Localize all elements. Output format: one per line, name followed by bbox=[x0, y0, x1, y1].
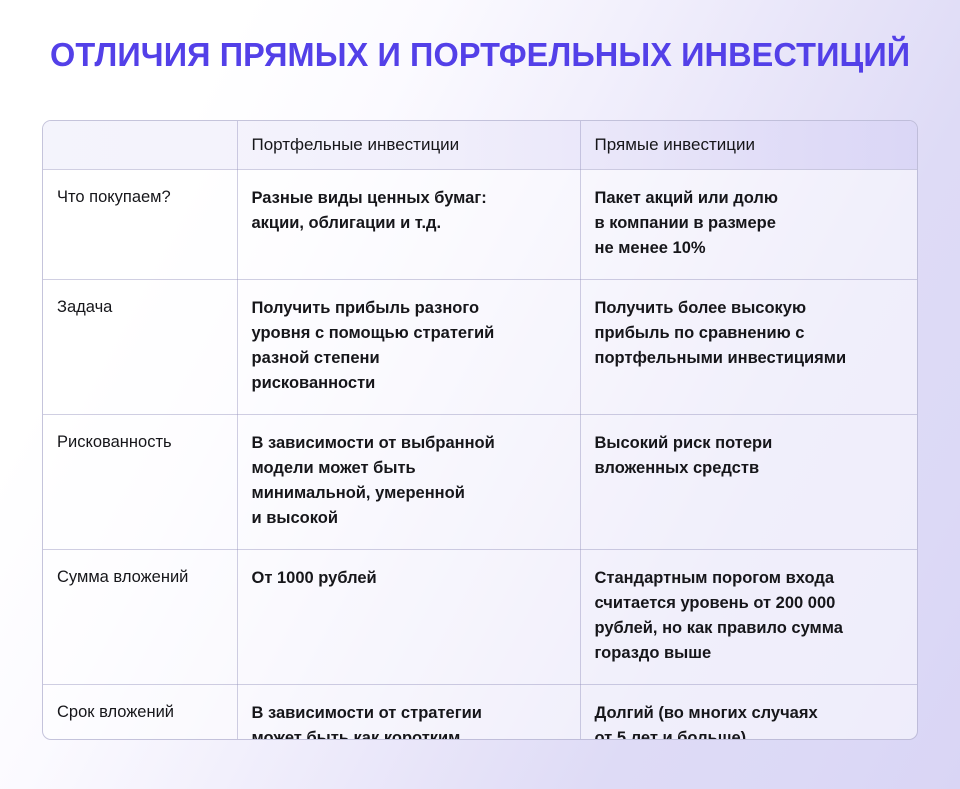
text-line: от 5 лет и больше) bbox=[595, 726, 906, 740]
text-line: В зависимости от выбранной bbox=[252, 431, 566, 456]
row-portfolio-cell: Получить прибыль разногоуровня с помощью… bbox=[237, 280, 580, 415]
text-line: прибыль по сравнению с bbox=[595, 321, 906, 346]
row-direct-cell: Стандартным порогом входасчитается урове… bbox=[580, 550, 918, 685]
text-line: Получить прибыль разного bbox=[252, 296, 566, 321]
row-portfolio-text: В зависимости от стратегииможет быть как… bbox=[238, 685, 580, 740]
text-line: От 1000 рублей bbox=[252, 566, 566, 591]
row-portfolio-cell: В зависимости от выбранноймодели может б… bbox=[237, 415, 580, 550]
row-criterion-cell: Что покупаем? bbox=[43, 170, 237, 280]
comparison-table-container: Портфельные инвестиции Прямые инвестиции… bbox=[42, 120, 918, 740]
row-portfolio-cell: От 1000 рублей bbox=[237, 550, 580, 685]
text-line: Долгий (во многих случаях bbox=[595, 701, 906, 726]
text-line: Пакет акций или долю bbox=[595, 186, 906, 211]
table-row: Сумма вложенийОт 1000 рублейСтандартным … bbox=[43, 550, 918, 685]
row-direct-text: Получить более высокуюприбыль по сравнен… bbox=[581, 280, 919, 389]
text-line: акции, облигации и т.д. bbox=[252, 211, 566, 236]
text-line: не менее 10% bbox=[595, 236, 906, 261]
text-line: Получить более высокую bbox=[595, 296, 906, 321]
row-direct-cell: Высокий риск потеривложенных средств bbox=[580, 415, 918, 550]
column-header-direct-label: Прямые инвестиции bbox=[581, 121, 919, 155]
row-direct-cell: Пакет акций или долюв компании в размере… bbox=[580, 170, 918, 280]
table-row: РискованностьВ зависимости от выбраннойм… bbox=[43, 415, 918, 550]
row-direct-text: Стандартным порогом входасчитается урове… bbox=[581, 550, 919, 684]
row-portfolio-text: От 1000 рублей bbox=[238, 550, 580, 609]
row-direct-text: Высокий риск потеривложенных средств bbox=[581, 415, 919, 499]
row-direct-text: Пакет акций или долюв компании в размере… bbox=[581, 170, 919, 279]
column-header-criterion bbox=[43, 121, 237, 170]
text-line: Высокий риск потери bbox=[595, 431, 906, 456]
table-body: Что покупаем?Разные виды ценных бумаг:ак… bbox=[43, 170, 918, 741]
row-portfolio-text: В зависимости от выбранноймодели может б… bbox=[238, 415, 580, 549]
text-line: уровня с помощью стратегий bbox=[252, 321, 566, 346]
row-criterion-cell: Рискованность bbox=[43, 415, 237, 550]
text-line: портфельными инвестициями bbox=[595, 346, 906, 371]
text-line: Стандартным порогом входа bbox=[595, 566, 906, 591]
row-direct-cell: Получить более высокуюприбыль по сравнен… bbox=[580, 280, 918, 415]
row-criterion-label: Сумма вложений bbox=[43, 550, 237, 606]
page-title: ОТЛИЧИЯ ПРЯМЫХ И ПОРТФЕЛЬНЫХ ИНВЕСТИЦИЙ bbox=[50, 34, 916, 76]
column-header-direct: Прямые инвестиции bbox=[580, 121, 918, 170]
row-direct-text: Долгий (во многих случаяхот 5 лет и боль… bbox=[581, 685, 919, 740]
row-portfolio-cell: Разные виды ценных бумаг:акции, облигаци… bbox=[237, 170, 580, 280]
table-row: ЗадачаПолучить прибыль разногоуровня с п… bbox=[43, 280, 918, 415]
column-header-portfolio-label: Портфельные инвестиции bbox=[238, 121, 580, 155]
text-line: и высокой bbox=[252, 506, 566, 531]
text-line: разной степени bbox=[252, 346, 566, 371]
table-row: Что покупаем?Разные виды ценных бумаг:ак… bbox=[43, 170, 918, 280]
text-line: в компании в размере bbox=[595, 211, 906, 236]
row-criterion-label: Задача bbox=[43, 280, 237, 336]
text-line: вложенных средств bbox=[595, 456, 906, 481]
text-line: Разные виды ценных бумаг: bbox=[252, 186, 566, 211]
row-criterion-cell: Срок вложений bbox=[43, 685, 237, 741]
text-line: модели может быть bbox=[252, 456, 566, 481]
text-line: может быть как коротким bbox=[252, 726, 566, 740]
text-line: В зависимости от стратегии bbox=[252, 701, 566, 726]
column-header-portfolio: Портфельные инвестиции bbox=[237, 121, 580, 170]
row-criterion-cell: Задача bbox=[43, 280, 237, 415]
text-line: рублей, но как правило сумма bbox=[595, 616, 906, 641]
comparison-table: Портфельные инвестиции Прямые инвестиции… bbox=[43, 121, 918, 740]
page-canvas: ОТЛИЧИЯ ПРЯМЫХ И ПОРТФЕЛЬНЫХ ИНВЕСТИЦИЙ … bbox=[0, 0, 960, 789]
column-header-criterion-label bbox=[43, 121, 237, 134]
row-portfolio-text: Получить прибыль разногоуровня с помощью… bbox=[238, 280, 580, 414]
row-criterion-label: Рискованность bbox=[43, 415, 237, 471]
row-portfolio-text: Разные виды ценных бумаг:акции, облигаци… bbox=[238, 170, 580, 254]
row-portfolio-cell: В зависимости от стратегииможет быть как… bbox=[237, 685, 580, 741]
table-header-row: Портфельные инвестиции Прямые инвестиции bbox=[43, 121, 918, 170]
text-line: минимальной, умеренной bbox=[252, 481, 566, 506]
text-line: считается уровень от 200 000 bbox=[595, 591, 906, 616]
row-criterion-label: Что покупаем? bbox=[43, 170, 237, 226]
text-line: рискованности bbox=[252, 371, 566, 396]
row-criterion-cell: Сумма вложений bbox=[43, 550, 237, 685]
table-row: Срок вложенийВ зависимости от стратегиим… bbox=[43, 685, 918, 741]
row-direct-cell: Долгий (во многих случаяхот 5 лет и боль… bbox=[580, 685, 918, 741]
text-line: гораздо выше bbox=[595, 641, 906, 666]
row-criterion-label: Срок вложений bbox=[43, 685, 237, 740]
